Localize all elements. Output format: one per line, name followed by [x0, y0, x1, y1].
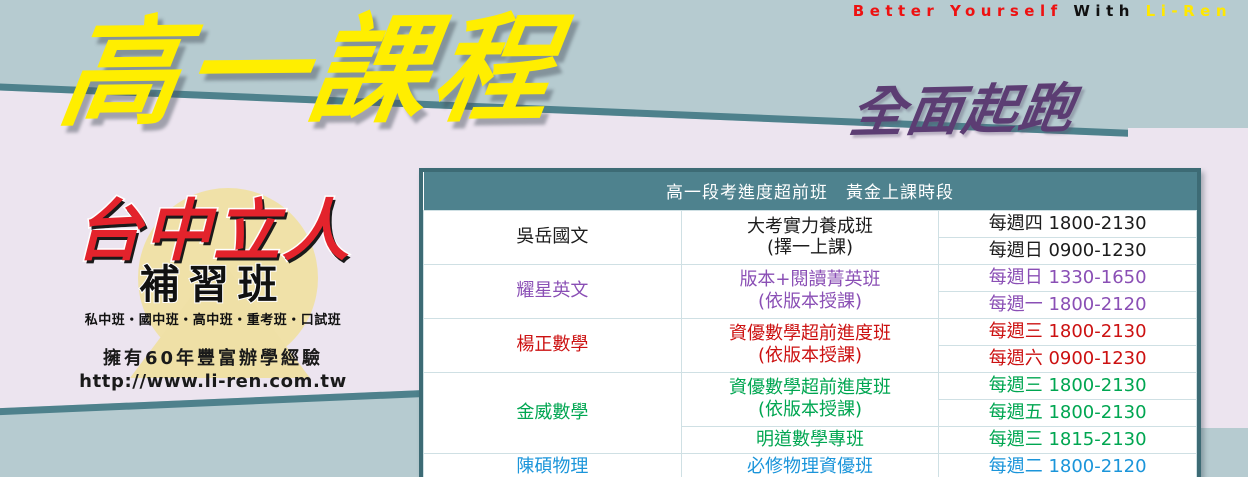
- cell-course: 資優數學超前進度班(依版本授課): [681, 372, 939, 426]
- cell-time: 每週二 1800-2120: [939, 453, 1197, 477]
- course-name: 資優數學超前進度班: [686, 377, 935, 399]
- cell-course: 資優數學超前進度班(依版本授課): [681, 318, 939, 372]
- table-row: 金威數學資優數學超前進度班(依版本授課)每週三 1800-2130: [424, 372, 1197, 399]
- course-name: 必修物理資優班: [686, 456, 935, 477]
- cell-time: 每週一 1800-2120: [939, 291, 1197, 318]
- course-name: 版本+閱讀菁英班: [686, 269, 935, 291]
- cell-time: 每週三 1800-2130: [939, 372, 1197, 399]
- cell-teacher: 耀星英文: [424, 264, 682, 318]
- page-title: 高一課程: [52, 5, 568, 138]
- cell-time: 每週三 1800-2130: [939, 318, 1197, 345]
- logo-website-url[interactable]: http://www.li-ren.com.tw: [18, 371, 408, 392]
- cell-course: 版本+閱讀菁英班(依版本授課): [681, 264, 939, 318]
- page-subtitle: 全面起跑: [845, 64, 1082, 148]
- table-row: 耀星英文版本+閱讀菁英班(依版本授課)每週日 1330-1650: [424, 264, 1197, 291]
- tagline-part-1: Better Yourself: [853, 2, 1063, 20]
- tagline-part-2: With: [1073, 2, 1135, 20]
- logo-experience: 擁有60年豐富辦學經驗: [18, 344, 408, 370]
- course-note: (擇一上課): [767, 237, 853, 258]
- cell-teacher: 金威數學: [424, 372, 682, 453]
- logo-name: 台中立人: [18, 198, 408, 265]
- course-name: 大考實力養成班: [686, 216, 935, 238]
- cell-time: 每週六 0900-1230: [939, 345, 1197, 372]
- table-row: 吳岳國文大考實力養成班(擇一上課)每週四 1800-2130: [424, 211, 1197, 238]
- course-note: (依版本授課): [758, 291, 862, 312]
- course-note: (依版本授課): [758, 345, 862, 366]
- cell-time: 每週日 1330-1650: [939, 264, 1197, 291]
- course-name: 資優數學超前進度班: [686, 323, 935, 345]
- cell-course: 明道數學專班: [681, 426, 939, 453]
- logo-program-tags: 私中班・國中班・高中班・重考班・口試班: [18, 309, 408, 328]
- cell-course: 大考實力養成班(擇一上課): [681, 211, 939, 265]
- cell-time: 每週五 1800-2130: [939, 399, 1197, 426]
- cell-teacher: 陳碩物理: [424, 453, 682, 477]
- course-note: (依版本授課): [758, 399, 862, 420]
- table-header-row: 高一段考進度超前班 黃金上課時段: [424, 172, 1197, 211]
- brand-logo: 台中立人 補習班 私中班・國中班・高中班・重考班・口試班 擁有60年豐富辦學經驗…: [18, 198, 408, 392]
- poster-canvas: Better Yourself With Li-Ren 高一課程 全面起跑 台中…: [0, 0, 1248, 477]
- schedule-table-title: 高一段考進度超前班 黃金上課時段: [424, 172, 1197, 211]
- cell-teacher: 吳岳國文: [424, 211, 682, 265]
- cell-time: 每週三 1815-2130: [939, 426, 1197, 453]
- cell-time: 每週日 0900-1230: [939, 237, 1197, 264]
- schedule-table-container: 高一段考進度超前班 黃金上課時段 吳岳國文大考實力養成班(擇一上課)每週四 18…: [419, 168, 1201, 477]
- table-row: 陳碩物理必修物理資優班每週二 1800-2120: [424, 453, 1197, 477]
- course-name: 明道數學專班: [686, 429, 935, 451]
- schedule-table-body: 吳岳國文大考實力養成班(擇一上課)每週四 1800-2130每週日 0900-1…: [424, 211, 1197, 477]
- cell-time: 每週四 1800-2130: [939, 211, 1197, 238]
- tagline: Better Yourself With Li-Ren: [853, 2, 1232, 20]
- cell-course: 必修物理資優班: [681, 453, 939, 477]
- tagline-part-3: Li-Ren: [1146, 2, 1232, 20]
- table-row: 楊正數學資優數學超前進度班(依版本授課)每週三 1800-2130: [424, 318, 1197, 345]
- schedule-table: 高一段考進度超前班 黃金上課時段 吳岳國文大考實力養成班(擇一上課)每週四 18…: [423, 172, 1197, 477]
- cell-teacher: 楊正數學: [424, 318, 682, 372]
